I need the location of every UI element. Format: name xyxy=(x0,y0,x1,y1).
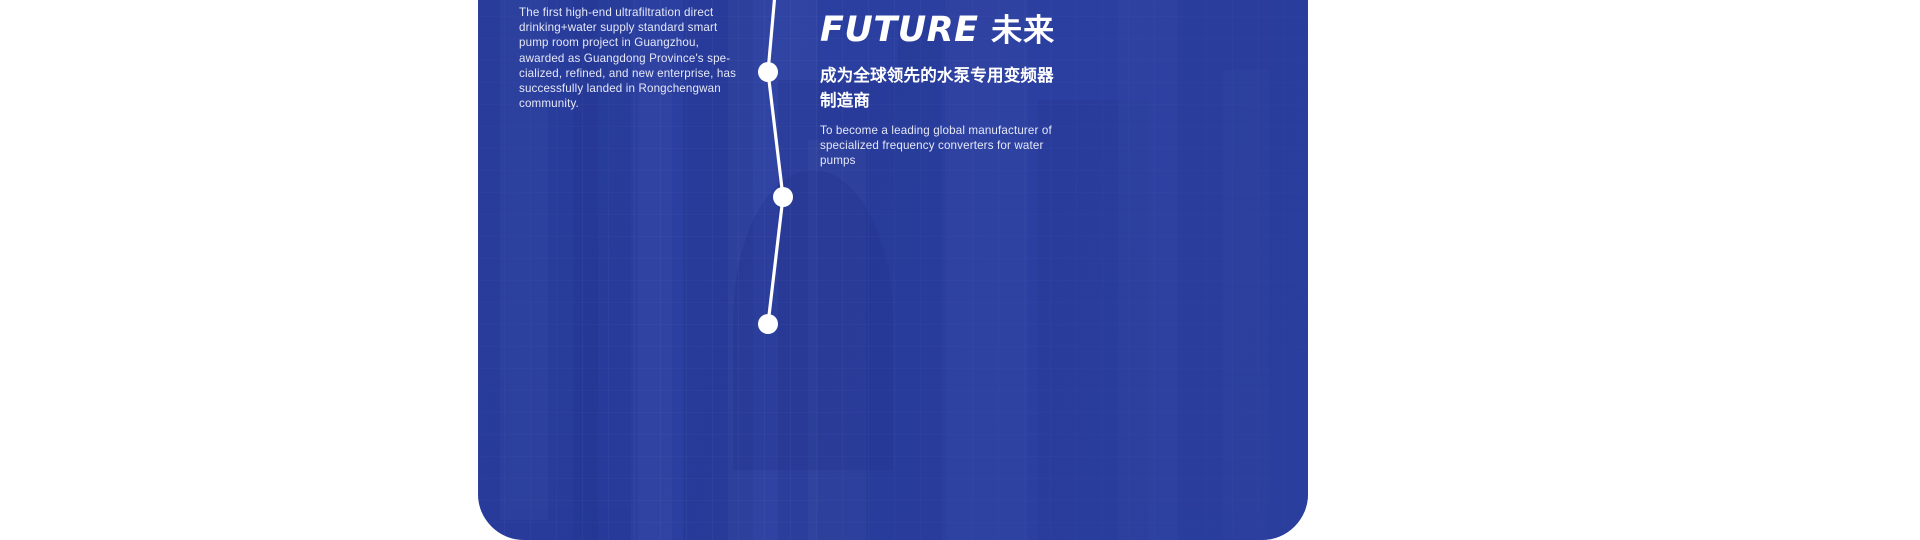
en-2024-line-7: community. xyxy=(519,97,579,110)
timeline-node-bottom xyxy=(758,314,778,334)
future-heading-en: FUTURE xyxy=(820,10,978,50)
en-2024-line-5: cialized, refined, and new enterprise, h… xyxy=(519,67,736,80)
future-heading: FUTURE 未来 xyxy=(820,9,1070,52)
en-2024-line-6: successfully landed in Rongchengwan xyxy=(519,82,721,95)
en-future-line-1: To become a leading global manufacturer … xyxy=(820,124,1052,137)
en-2024-line-1: The first high-end ultrafiltration direc… xyxy=(519,6,713,19)
milestone-future: FUTURE 未来 成为全球领先的水泵专用变频器制造商 To become a … xyxy=(820,9,1070,169)
future-heading-cn: 未来 xyxy=(991,13,1055,49)
en-2024-line-3: pump room project in Guangzhou, xyxy=(519,36,699,49)
screenshot-root: 通过“售后服务五星级”认证 百福佛山工厂竣工并投入运营 The third in… xyxy=(0,0,1920,483)
cn-future-line-1: 成为全球领先的水泵专用变频器制造商 xyxy=(820,64,1070,114)
en-2024-line-4: awarded as Guangdong Province's spe- xyxy=(519,52,730,65)
en-2024-line-2: drinking+water supply standard smart xyxy=(519,21,717,34)
timeline-panel: 通过“售后服务五星级”认证 百福佛山工厂竣工并投入运营 The third in… xyxy=(478,0,1308,540)
milestone-2024: 2024 获评:广东省专精特新企业广州市 首个高端超滤直饮+供水标准智慧 泵房项… xyxy=(519,0,777,111)
timeline-node-middle xyxy=(773,187,793,207)
en-future-paragraph: To become a leading global manufacturer … xyxy=(820,123,1070,169)
timeline-column-right: The third generation of W713 series inte… xyxy=(820,0,1070,168)
en-2024-paragraph: The first high-end ultrafiltration direc… xyxy=(519,5,777,111)
en-future-line-3: pumps xyxy=(820,154,856,167)
en-future-line-2: specialized frequency converters for wat… xyxy=(820,139,1043,152)
timeline-column-left: 通过“售后服务五星级”认证 百福佛山工厂竣工并投入运营 The third in… xyxy=(519,0,777,111)
